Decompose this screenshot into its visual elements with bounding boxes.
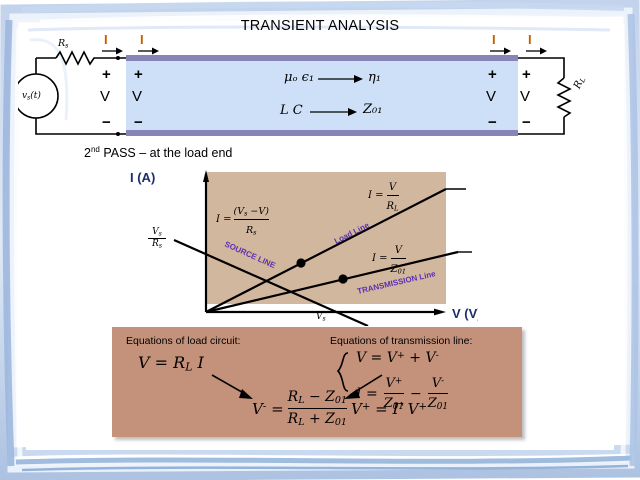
transmission-equation-voltage: V = V+ + V-	[356, 350, 439, 366]
page-title: TRANSIENT ANALYSIS	[0, 18, 640, 34]
medium-parameters-row-2: L C	[280, 103, 303, 118]
node-dot-left-bottom	[116, 132, 120, 136]
current-label-1: I	[104, 32, 108, 47]
transmission-line-bottom-conductor	[126, 130, 518, 136]
load-circuit-equation: V = RL I	[138, 353, 204, 373]
current-arrows-right	[490, 48, 547, 55]
graph-intersection-dot-1	[296, 258, 305, 267]
transmission-equation-current: I = V+ Z01 − V- Z01	[356, 375, 448, 412]
graph-x-axis-label: V (V)	[452, 306, 478, 321]
current-label-2: I	[140, 32, 144, 47]
minus-sign-3: −	[488, 114, 497, 131]
graph-axes	[203, 170, 446, 315]
voltage-source-label: vs(t)	[22, 90, 41, 101]
transmission-line-circuit-diagram: Rs vs(t) I I I I + + + + V V V V − − − −…	[18, 34, 622, 154]
graph-y-axis-label: I (A)	[130, 170, 155, 185]
load-resistor-symbol	[558, 78, 570, 117]
graph-intersection-dot-2	[338, 274, 347, 283]
graph-load-line-name: Load Line	[333, 220, 371, 245]
node-dot-left-top	[116, 56, 120, 60]
series-resistor-symbol	[56, 52, 126, 64]
voltage-label-4: V	[520, 88, 530, 105]
load-line-graph: I (A) V (V) SOURCE LINE Load Line TRANSM…	[128, 166, 478, 326]
plus-sign-3: +	[488, 66, 497, 83]
slide-root: TRANSIENT ANALYSIS	[0, 0, 640, 480]
minus-sign-2: −	[134, 114, 143, 131]
graph-transmission-line	[206, 252, 458, 312]
medium-result-row-1: η₁	[368, 70, 381, 85]
voltage-label-3: V	[486, 88, 496, 105]
plus-sign-2: +	[134, 66, 143, 83]
pass-caption: 2nd PASS – at the load end	[84, 145, 232, 160]
medium-parameters-row-1: μₒ ϵ₁	[284, 70, 314, 85]
voltage-label-2: V	[132, 88, 142, 105]
plus-sign-4: +	[522, 66, 531, 83]
transmission-line-top-conductor	[126, 55, 518, 61]
current-label-3: I	[492, 32, 496, 47]
transmission-line-body	[126, 58, 518, 134]
graph-source-line	[174, 240, 368, 326]
series-resistor-label: Rs	[58, 38, 68, 49]
voltage-label-1: V	[100, 88, 110, 105]
graph-y-intercept-label: Vs Rs	[148, 228, 166, 250]
graph-transmission-equation: I = V Z01	[372, 241, 406, 276]
graph-load-equation: I = V RL	[368, 178, 399, 213]
wire-source-bottom	[36, 118, 126, 134]
minus-sign-1: −	[102, 114, 111, 131]
medium-result-row-2: Z₀₁	[363, 102, 382, 117]
equations-panel: Equations of load circuit: Equations of …	[112, 327, 522, 437]
graph-source-equation: I = (Vs −V) Rs	[216, 202, 269, 237]
plus-sign-1: +	[102, 66, 111, 83]
minus-sign-4: −	[522, 114, 531, 131]
graph-x-intercept-label: Vs	[316, 312, 326, 322]
current-arrows-left	[102, 48, 159, 55]
current-label-4: I	[528, 32, 532, 47]
